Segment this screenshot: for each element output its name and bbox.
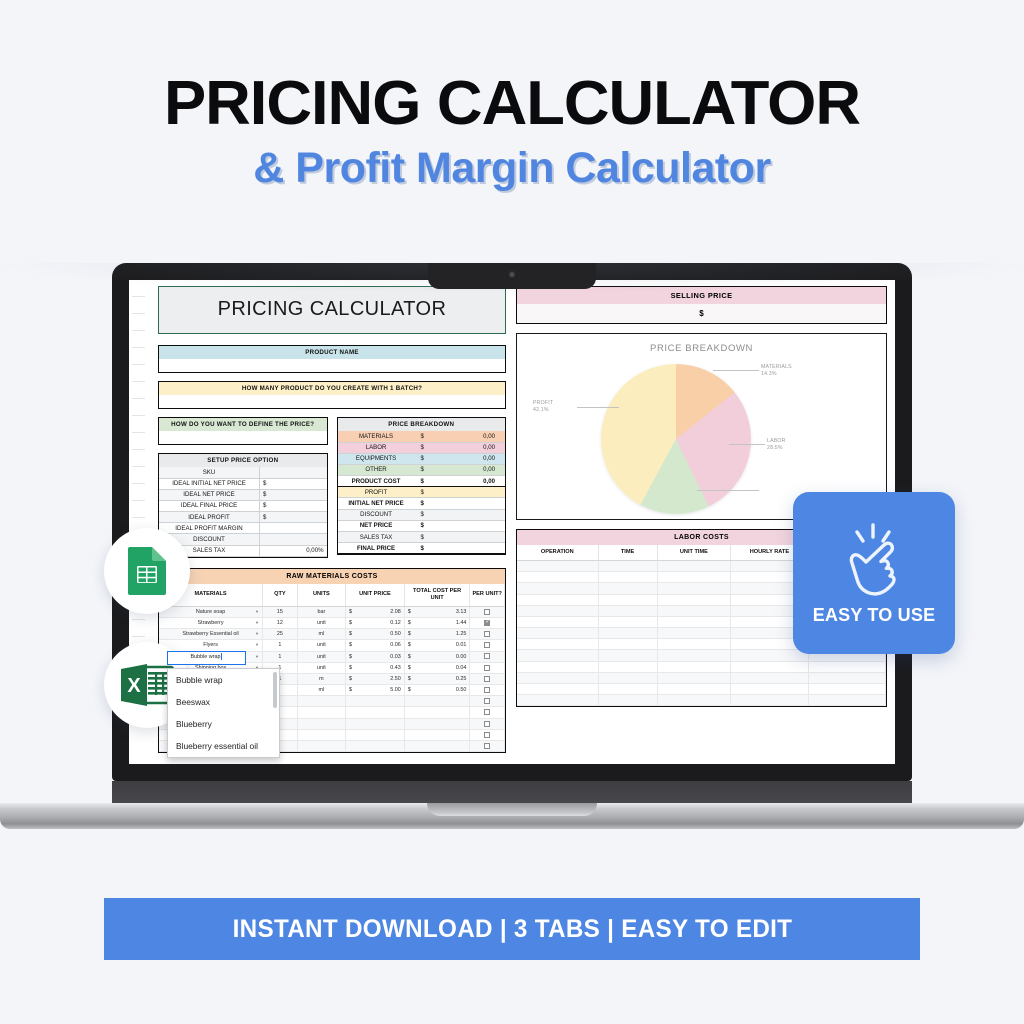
table-row: MATERIALS$0,00	[338, 431, 506, 442]
breakdown-value: 0,00	[441, 431, 505, 442]
cell-unit-price-value: 0.03	[349, 654, 401, 660]
dropdown-scrollbar[interactable]	[273, 672, 277, 708]
cell-units[interactable]: unit	[297, 617, 345, 628]
cell-units[interactable]: m	[297, 673, 345, 684]
cell-total	[808, 684, 885, 695]
breakdown-value	[441, 509, 505, 520]
cell-time[interactable]	[598, 695, 657, 706]
cell-total-cost-value: 3.13	[408, 609, 467, 615]
setup-price-option-table: SKU IDEAL INITIAL NET PRICE$ IDEAL NET P…	[159, 467, 327, 557]
google-sheets-badge	[104, 528, 190, 614]
cell-unit-price-value: 2.08	[349, 609, 401, 615]
col-time: TIME	[598, 545, 657, 560]
active-cell-editor[interactable]: Bubble wrap	[167, 651, 246, 665]
cell-operation[interactable]	[517, 583, 598, 594]
cell-operation[interactable]	[517, 616, 598, 627]
table-row[interactable]: DISCOUNT	[159, 534, 327, 545]
cell-per-unit[interactable]	[470, 696, 505, 707]
spreadsheet-screen: 2 3 4 13 14 15 PRICING CALCULATOR	[129, 280, 895, 764]
setup-value[interactable]: $	[260, 489, 327, 500]
breakdown-symbol: $	[415, 431, 442, 442]
cell-unit-time[interactable]	[657, 583, 731, 594]
cell-operation[interactable]	[517, 628, 598, 639]
table-row[interactable]	[517, 661, 886, 672]
cell-total-cost-value: 0.04	[408, 665, 467, 671]
cell-time[interactable]	[598, 560, 657, 571]
row-number	[132, 484, 145, 501]
row-number	[132, 450, 145, 467]
cell-unit-price-value: 5.00	[349, 687, 401, 693]
define-price-input[interactable]	[159, 431, 327, 444]
table-row: DISCOUNT$	[338, 509, 506, 520]
page-title: PRICING CALCULATOR	[0, 72, 1024, 136]
cell-unit-price[interactable]: $2.50	[346, 673, 405, 684]
cell-units[interactable]: unit	[297, 662, 345, 673]
click-hand-icon	[835, 521, 913, 601]
table-row[interactable]: IDEAL PROFIT MARGIN	[159, 523, 327, 534]
cell-total-cost	[404, 729, 470, 740]
table-row[interactable]: IDEAL PROFIT$	[159, 512, 327, 523]
active-cell-value: Bubble wrap	[191, 654, 221, 660]
setup-label: IDEAL PROFIT MARGIN	[159, 523, 260, 534]
cell-total-cost	[404, 741, 470, 752]
cell-time[interactable]	[598, 605, 657, 616]
webcam-icon	[509, 271, 516, 278]
setup-value[interactable]	[260, 523, 327, 534]
chart-label-materials-value: 14.3%	[761, 371, 792, 378]
row-number	[132, 297, 145, 314]
cell-operation[interactable]	[517, 572, 598, 583]
cell-unit-price[interactable]: $5.00	[346, 685, 405, 696]
breakdown-symbol: $	[415, 509, 442, 520]
table-row[interactable]	[517, 672, 886, 683]
per-unit-checkbox[interactable]	[484, 732, 490, 738]
cell-unit-price[interactable]	[346, 707, 405, 718]
cell-total-cost-value: 1.25	[408, 631, 467, 637]
batch-quantity-input[interactable]	[159, 395, 505, 408]
cell-hourly-rate[interactable]	[731, 684, 808, 695]
cell-total-cost: $0.50	[404, 685, 470, 696]
cell-material[interactable]: Flyers	[159, 640, 263, 651]
cell-hourly-rate[interactable]	[731, 672, 808, 683]
breakdown-value	[441, 520, 505, 531]
cell-unit-price-value: 0.43	[349, 665, 401, 671]
cell-unit-time[interactable]	[657, 616, 731, 627]
cell-operation[interactable]	[517, 684, 598, 695]
laptop-base	[0, 803, 1024, 829]
cell-total-cost-value: 0.01	[408, 642, 467, 648]
chart-title: PRICE BREAKDOWN	[517, 334, 886, 354]
breakdown-label: NET PRICE	[338, 520, 415, 531]
product-name-block[interactable]: PRODUCT NAME	[158, 345, 506, 373]
product-name-header: PRODUCT NAME	[159, 346, 505, 359]
laptop-mockup: 2 3 4 13 14 15 PRICING CALCULATOR	[112, 263, 912, 829]
footer-banner: INSTANT DOWNLOAD | 3 TABS | EASY TO EDIT	[104, 898, 920, 960]
row-number	[132, 348, 145, 365]
breakdown-value: 0,00	[441, 476, 505, 487]
setup-label: IDEAL INITIAL NET PRICE	[159, 478, 260, 489]
leader-line-profit	[577, 407, 619, 408]
row-number	[132, 416, 145, 433]
cell-units[interactable]: bar	[297, 606, 345, 617]
setup-price-option-block: SETUP PRICE OPTION SKU IDEAL INITIAL NET…	[158, 453, 328, 558]
dropdown-option[interactable]: Beeswax	[168, 691, 279, 713]
cell-unit-price[interactable]: $2.08	[346, 606, 405, 617]
cell-per-unit[interactable]	[470, 662, 505, 673]
cell-per-unit[interactable]	[470, 629, 505, 640]
cell-operation[interactable]	[517, 695, 598, 706]
table-row: OTHER$0,00	[338, 464, 506, 475]
cell-total	[808, 661, 885, 672]
easy-to-use-label: EASY TO USE	[813, 605, 936, 626]
cell-hourly-rate[interactable]	[731, 650, 808, 661]
row-number	[132, 314, 145, 331]
per-unit-checkbox[interactable]	[484, 687, 490, 693]
breakdown-label: INITIAL NET PRICE	[338, 498, 415, 509]
cell-total-cost: $3.13	[404, 606, 470, 617]
cell-time[interactable]	[598, 628, 657, 639]
cell-unit-time[interactable]	[657, 672, 731, 683]
cell-unit-price[interactable]: $0.43	[346, 662, 405, 673]
row-number	[132, 620, 145, 637]
google-sheets-icon	[126, 546, 168, 596]
cell-total	[808, 695, 885, 706]
cell-operation[interactable]	[517, 672, 598, 683]
cell-operation[interactable]	[517, 605, 598, 616]
cell-operation[interactable]	[517, 560, 598, 571]
setup-value[interactable]: $	[260, 500, 327, 511]
price-breakdown-table: MATERIALS$0,00 LABOR$0,00 EQUIPMENTS$0,0…	[338, 431, 506, 554]
chart-label-profit: PROFIT 42.1%	[533, 400, 553, 414]
raw-materials-costs-block: RAW MATERIALS COSTS MATERIALS QTY UNITS …	[158, 568, 506, 753]
cell-material[interactable]: Nature soap	[159, 606, 263, 617]
breakdown-value	[441, 498, 505, 509]
cell-unit-price[interactable]: $0.06	[346, 640, 405, 651]
cell-total	[808, 672, 885, 683]
breakdown-label: FINAL PRICE	[338, 543, 415, 554]
row-number	[132, 467, 145, 484]
cell-time[interactable]	[598, 583, 657, 594]
cell-unit-price[interactable]	[346, 718, 405, 729]
cell-total-cost-value: 0.25	[408, 676, 467, 682]
cell-unit-price[interactable]	[346, 729, 405, 740]
chart-label-profit-name: PROFIT	[533, 400, 553, 407]
laptop-hinge	[112, 781, 912, 803]
cell-units[interactable]: ml	[297, 629, 345, 640]
setup-label: IDEAL NET PRICE	[159, 489, 260, 500]
cell-unit-time[interactable]	[657, 684, 731, 695]
breakdown-label: EQUIPMENTS	[338, 453, 415, 464]
breakdown-symbol: $	[415, 487, 442, 498]
cell-per-unit[interactable]	[470, 640, 505, 651]
breakdown-value: 0,00	[441, 453, 505, 464]
breakdown-label: PROFIT	[338, 487, 415, 498]
col-unit-price: UNIT PRICE	[346, 584, 405, 606]
cell-unit-price-value: 2.50	[349, 676, 401, 682]
cell-units[interactable]: unit	[297, 651, 345, 662]
footer-text: INSTANT DOWNLOAD | 3 TABS | EASY TO EDIT	[232, 915, 792, 944]
row-number	[132, 382, 145, 399]
table-row: LABOR$0,00	[338, 442, 506, 453]
cell-unit-price[interactable]	[346, 741, 405, 752]
row-number	[132, 365, 145, 382]
setup-label: SKU	[159, 467, 260, 478]
cell-total-cost: $1.44	[404, 617, 470, 628]
setup-value[interactable]: $	[260, 478, 327, 489]
cell-total-cost: $0.25	[404, 673, 470, 684]
cell-units[interactable]	[297, 729, 345, 740]
define-price-block[interactable]: HOW DO YOU WANT TO DEFINE THE PRICE?	[158, 417, 328, 445]
breakdown-symbol: $	[415, 442, 442, 453]
breakdown-symbol: $	[415, 464, 442, 475]
cell-per-unit[interactable]	[470, 673, 505, 684]
cell-total-cost: $0.04	[404, 662, 470, 673]
table-row[interactable]	[517, 684, 886, 695]
cell-qty[interactable]: 15	[263, 606, 298, 617]
cell-units[interactable]	[297, 741, 345, 752]
spreadsheet-left-pane: 2 3 4 13 14 15 PRICING CALCULATOR	[129, 280, 512, 764]
setup-value[interactable]: $	[260, 512, 327, 523]
col-unit-time: UNIT TIME	[657, 545, 731, 560]
cell-per-unit[interactable]	[470, 741, 505, 752]
table-row[interactable]: SKU	[159, 467, 327, 478]
breakdown-label: DISCOUNT	[338, 509, 415, 520]
cell-unit-time[interactable]	[657, 661, 731, 672]
per-unit-checkbox[interactable]	[484, 743, 490, 749]
cell-per-unit[interactable]	[470, 651, 505, 662]
table-row[interactable]: IDEAL INITIAL NET PRICE$	[159, 478, 327, 489]
sheet-title: PRICING CALCULATOR	[158, 286, 506, 334]
leader-line-labor	[729, 444, 765, 445]
page-subtitle: & Profit Margin Calculator	[0, 144, 1024, 193]
cell-qty[interactable]: 1	[263, 651, 298, 662]
col-total-cost: TOTAL COST PER UNIT	[404, 584, 470, 606]
breakdown-value: 0,00	[441, 442, 505, 453]
table-row: PRODUCT COST$0,00	[338, 476, 506, 487]
breakdown-symbol: $	[415, 532, 442, 543]
price-setup-row: HOW DO YOU WANT TO DEFINE THE PRICE? SET…	[158, 417, 506, 566]
cell-unit-time[interactable]	[657, 560, 731, 571]
cell-units[interactable]	[297, 718, 345, 729]
cell-total-cost	[404, 696, 470, 707]
cell-unit-price[interactable]: $0.12	[346, 617, 405, 628]
col-operation: OPERATION	[517, 545, 598, 560]
cell-unit-price-value: 0.06	[349, 642, 401, 648]
cell-units[interactable]: unit	[297, 640, 345, 651]
cell-unit-time[interactable]	[657, 639, 731, 650]
breakdown-label: PRODUCT COST	[338, 476, 415, 487]
cell-total-cost	[404, 718, 470, 729]
table-row: INITIAL NET PRICE$	[338, 498, 506, 509]
table-row: PROFIT$	[338, 487, 506, 498]
per-unit-checkbox[interactable]	[484, 642, 490, 648]
cell-unit-price-value: 0.50	[349, 631, 401, 637]
cell-qty[interactable]: 12	[263, 617, 298, 628]
breakdown-value	[441, 532, 505, 543]
chart-label-labor-name: LABOR	[767, 438, 786, 445]
breakdown-value	[441, 543, 505, 554]
cell-units[interactable]: ml	[297, 685, 345, 696]
cell-material[interactable]: Strawberry	[159, 617, 263, 628]
table-row[interactable]: Flyers 1 unit $0.06 $0.01	[159, 640, 505, 651]
table-row[interactable]: Nature soap 15 bar $2.08 $3.13	[159, 606, 505, 617]
cell-per-unit[interactable]	[470, 617, 505, 628]
chart-label-materials: MATERIALS 14.3%	[761, 364, 792, 378]
per-unit-checkbox[interactable]	[484, 698, 490, 704]
price-breakdown-block: PRICE BREAKDOWN MATERIALS$0,00 LABOR$0,0…	[337, 417, 507, 555]
cell-unit-time[interactable]	[657, 650, 731, 661]
leader-line-materials	[713, 370, 759, 371]
setup-value[interactable]	[260, 534, 327, 545]
breakdown-symbol: $	[415, 543, 442, 554]
pie-chart-slices	[601, 364, 751, 514]
cell-total-cost-value: 1.44	[408, 620, 467, 626]
chart-label-labor-value: 28.5%	[767, 445, 786, 452]
svg-text:X: X	[127, 675, 141, 697]
cell-per-unit[interactable]	[470, 718, 505, 729]
cell-operation[interactable]	[517, 639, 598, 650]
cell-total-cost: $1.25	[404, 629, 470, 640]
table-row: FINAL PRICE$	[338, 543, 506, 554]
raw-materials-header: RAW MATERIALS COSTS	[159, 569, 505, 584]
chart-label-profit-value: 42.1%	[533, 407, 553, 414]
cell-hourly-rate[interactable]	[731, 661, 808, 672]
cell-per-unit[interactable]	[470, 729, 505, 740]
breakdown-value: 0,00	[441, 464, 505, 475]
per-unit-checkbox[interactable]	[484, 676, 490, 682]
cell-operation[interactable]	[517, 650, 598, 661]
easy-to-use-badge: EASY TO USE	[793, 492, 955, 654]
cell-total-cost-value: 0.00	[408, 654, 467, 660]
cell-qty[interactable]: 25	[263, 629, 298, 640]
per-unit-checkbox[interactable]	[484, 631, 490, 637]
cell-units[interactable]	[297, 707, 345, 718]
hero-heading-group: PRICING CALCULATOR & Profit Margin Calcu…	[0, 72, 1024, 193]
cell-total-cost	[404, 707, 470, 718]
table-header-row: MATERIALS QTY UNITS UNIT PRICE TOTAL COS…	[159, 584, 505, 606]
cell-unit-price-value: 0.12	[349, 620, 401, 626]
cell-units[interactable]	[297, 696, 345, 707]
per-unit-checkbox[interactable]	[484, 620, 490, 626]
cell-operation[interactable]	[517, 594, 598, 605]
laptop-notch	[428, 263, 596, 289]
table-row: SALES TAX$	[338, 532, 506, 543]
cell-unit-time[interactable]	[657, 695, 731, 706]
cell-time[interactable]	[598, 616, 657, 627]
chart-label-labor: LABOR 28.5%	[767, 438, 786, 452]
cell-unit-price[interactable]	[346, 696, 405, 707]
row-number	[132, 433, 145, 450]
price-breakdown-header: PRICE BREAKDOWN	[338, 418, 506, 431]
cell-material[interactable]: Strawberry Essential oil	[159, 629, 263, 640]
cell-unit-time[interactable]	[657, 628, 731, 639]
cell-time[interactable]	[598, 661, 657, 672]
col-units: UNITS	[297, 584, 345, 606]
cell-unit-time[interactable]	[657, 594, 731, 605]
setup-value[interactable]	[260, 467, 327, 478]
table-row[interactable]: IDEAL FINAL PRICE$	[159, 500, 327, 511]
setup-label: IDEAL FINAL PRICE	[159, 500, 260, 511]
leader-line-equipments	[697, 490, 759, 491]
cell-time[interactable]	[598, 572, 657, 583]
laptop-lid: 2 3 4 13 14 15 PRICING CALCULATOR	[112, 263, 912, 781]
per-unit-checkbox[interactable]	[484, 721, 490, 727]
chart-label-materials-name: MATERIALS	[761, 364, 792, 371]
cell-total-cost-value: 0.50	[408, 687, 467, 693]
cell-hourly-rate[interactable]	[731, 695, 808, 706]
table-row[interactable]: Strawberry Essential oil 25 ml $0.50 $1.…	[159, 629, 505, 640]
cell-unit-price[interactable]: $0.03	[346, 651, 405, 662]
define-price-header: HOW DO YOU WANT TO DEFINE THE PRICE?	[159, 418, 327, 431]
breakdown-symbol: $	[415, 520, 442, 531]
cell-unit-time[interactable]	[657, 605, 731, 616]
row-number	[132, 331, 145, 348]
cell-unit-price[interactable]: $0.50	[346, 629, 405, 640]
cell-per-unit[interactable]	[470, 707, 505, 718]
batch-quantity-block[interactable]: HOW MANY PRODUCT DO YOU CREATE WITH 1 BA…	[158, 381, 506, 409]
table-row[interactable]: Strawberry 12 unit $0.12 $1.44	[159, 617, 505, 628]
cell-total-cost: $0.00	[404, 651, 470, 662]
breakdown-label: MATERIALS	[338, 431, 415, 442]
breakdown-value	[441, 487, 505, 498]
setup-value[interactable]: 0,00%	[260, 545, 327, 556]
col-per-unit: PER UNIT?	[470, 584, 505, 606]
cell-operation[interactable]	[517, 661, 598, 672]
cell-unit-time[interactable]	[657, 572, 731, 583]
cell-total-cost: $0.01	[404, 640, 470, 651]
breakdown-symbol: $	[415, 476, 442, 487]
batch-quantity-header: HOW MANY PRODUCT DO YOU CREATE WITH 1 BA…	[159, 382, 505, 395]
text-caret	[221, 653, 222, 660]
product-name-input[interactable]	[159, 359, 505, 372]
dropdown-option[interactable]: Blueberry essential oil	[168, 735, 279, 757]
cell-per-unit[interactable]	[470, 606, 505, 617]
per-unit-checkbox[interactable]	[484, 665, 490, 671]
breakdown-label: LABOR	[338, 442, 415, 453]
cell-time[interactable]	[598, 594, 657, 605]
material-dropdown-list[interactable]: Bubble wrap Beeswax Blueberry Blueberry …	[167, 668, 280, 758]
pie-chart	[601, 364, 751, 514]
row-number	[132, 399, 145, 416]
table-row: NET PRICE$	[338, 520, 506, 531]
breakdown-label: SALES TAX	[338, 532, 415, 543]
table-row: EQUIPMENTS$0,00	[338, 453, 506, 464]
per-unit-checkbox[interactable]	[484, 609, 490, 615]
row-number	[132, 501, 145, 518]
per-unit-checkbox[interactable]	[484, 709, 490, 715]
table-row[interactable]	[517, 695, 886, 706]
cell-time[interactable]	[598, 684, 657, 695]
breakdown-symbol: $	[415, 453, 442, 464]
cell-time[interactable]	[598, 650, 657, 661]
cell-qty[interactable]: 1	[263, 640, 298, 651]
setup-price-option-header: SETUP PRICE OPTION	[159, 454, 327, 467]
breakdown-symbol: $	[415, 498, 442, 509]
table-row[interactable]: IDEAL NET PRICE$	[159, 489, 327, 500]
dropdown-option[interactable]: Blueberry	[168, 713, 279, 735]
breakdown-label: OTHER	[338, 464, 415, 475]
cell-time[interactable]	[598, 672, 657, 683]
dropdown-option[interactable]: Bubble wrap	[168, 669, 279, 691]
selling-price-value: $	[517, 304, 886, 323]
col-qty: QTY	[263, 584, 298, 606]
per-unit-checkbox[interactable]	[484, 653, 490, 659]
cell-time[interactable]	[598, 639, 657, 650]
cell-per-unit[interactable]	[470, 685, 505, 696]
setup-label: IDEAL PROFIT	[159, 512, 260, 523]
